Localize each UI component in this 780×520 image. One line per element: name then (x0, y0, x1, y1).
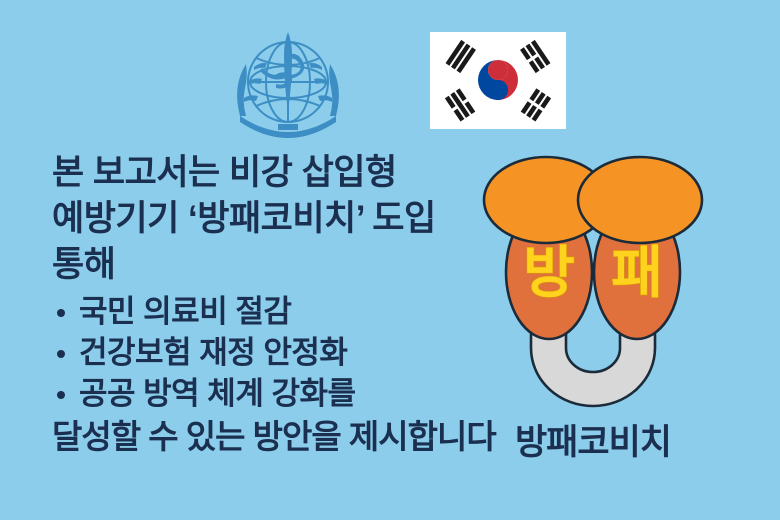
benefit-list: 국민 의료비 절감 건강보험 재정 안정화 공공 방역 체계 강화를 (52, 291, 512, 414)
bullet-dot-icon (57, 309, 65, 317)
bullet-dot-icon (57, 391, 65, 399)
infographic-poster: 본 보고서는 비강 삽입형 예방기기 ‘방패코비치’ 도입 통해 국민 의료비 … (0, 0, 780, 520)
closing-line: 달성할 수 있는 방안을 제시합니다 (52, 416, 512, 458)
bullet-dot-icon (57, 350, 65, 358)
device-caption: 방패코비치 (468, 414, 718, 465)
right-plug-label: 패 (611, 241, 663, 304)
device-bridge (531, 334, 655, 406)
right-plug-cap (578, 157, 702, 243)
lead-line-2: 예방기기 ‘방패코비치’ 도입 (52, 196, 512, 242)
lead-line-3: 통해 (52, 242, 512, 288)
lead-line-1: 본 보고서는 비강 삽입형 (52, 150, 512, 196)
left-plug-label: 방 (523, 241, 575, 304)
list-item: 건강보험 재정 안정화 (52, 332, 512, 373)
list-item-label: 공공 방역 체계 강화를 (79, 376, 356, 411)
world-health-organization-emblem-icon (222, 24, 354, 146)
nasal-shield-device-illustration: 방 패 (468, 152, 718, 414)
list-item: 국민 의료비 절감 (52, 291, 512, 332)
south-korea-flag-taegukgi-icon (430, 32, 566, 129)
list-item-label: 국민 의료비 절감 (79, 294, 291, 329)
list-item-label: 건강보험 재정 안정화 (79, 335, 347, 370)
list-item: 공공 방역 체계 강화를 (52, 373, 512, 414)
report-summary-text: 본 보고서는 비강 삽입형 예방기기 ‘방패코비치’ 도입 통해 국민 의료비 … (52, 150, 512, 458)
